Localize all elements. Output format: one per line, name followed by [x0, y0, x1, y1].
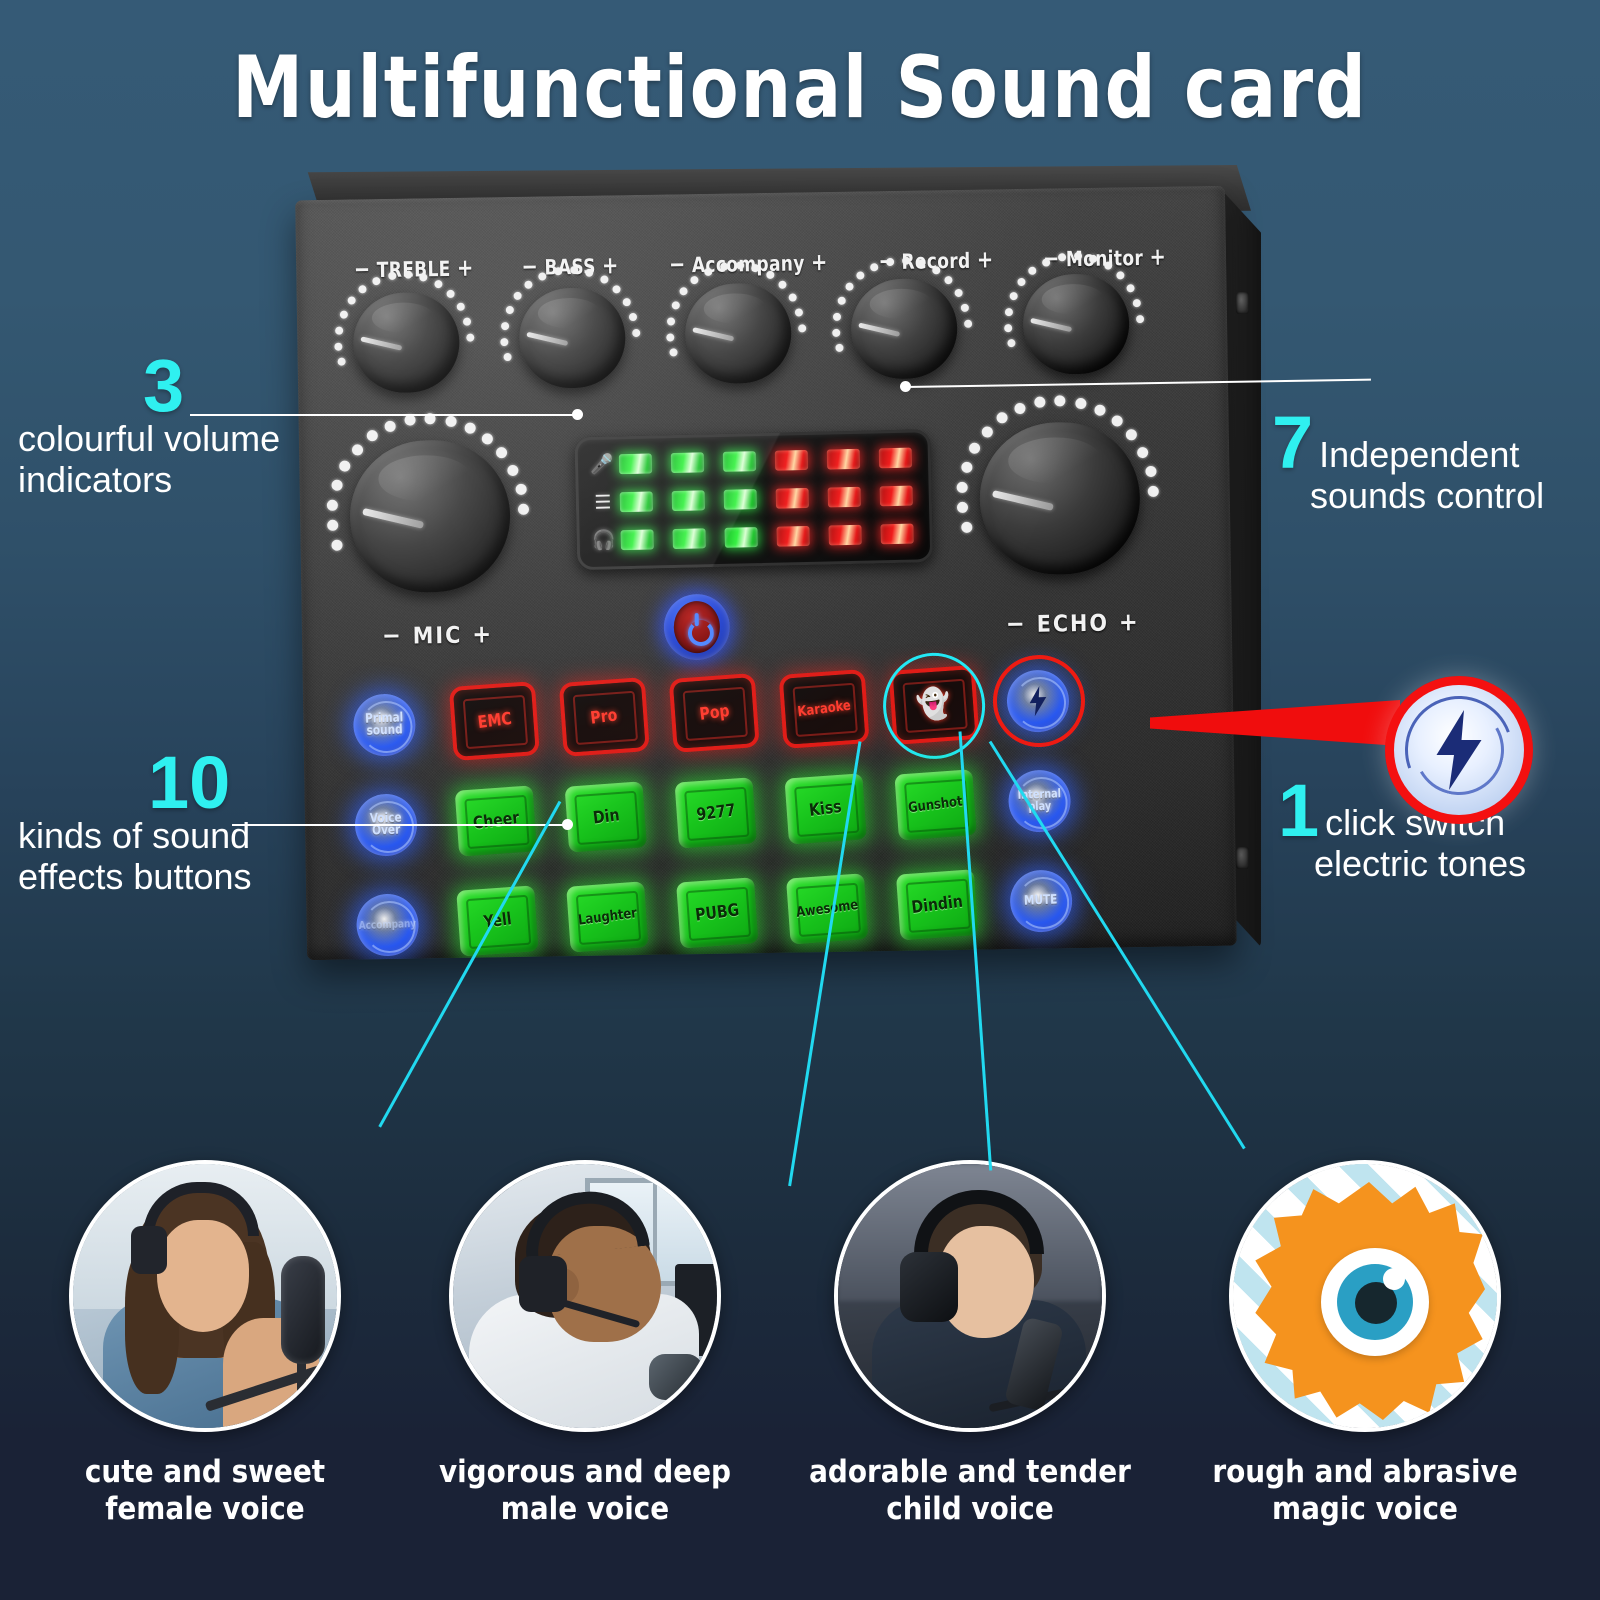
- photo-caption: rough and abrasive magic voice: [1185, 1454, 1545, 1528]
- button-cheer[interactable]: Cheer: [455, 785, 538, 856]
- button-electric-tone[interactable]: [1006, 669, 1070, 733]
- knob-record[interactable]: [846, 274, 966, 394]
- callout-line-2: sounds control: [1310, 475, 1544, 516]
- button-9277[interactable]: 9277: [675, 777, 758, 848]
- caption-line-2: child voice: [790, 1491, 1150, 1528]
- led-row-headphones: 🎧: [576, 514, 933, 560]
- lightning-bolt-icon: [1024, 686, 1051, 717]
- photo-caption: cute and sweet female voice: [25, 1454, 385, 1528]
- led-rows: 🎤 ☰ 🎧: [575, 438, 933, 560]
- led-indicator: [880, 524, 913, 545]
- knob-treble[interactable]: [348, 288, 468, 408]
- callout-line-2: effects buttons: [18, 856, 252, 897]
- button-dindin[interactable]: Dindin: [896, 869, 979, 940]
- button-mute[interactable]: MUTE: [1009, 869, 1073, 933]
- knob-monitor[interactable]: [1018, 269, 1138, 389]
- caption-line-1: cute and sweet: [25, 1454, 385, 1491]
- callout-line-1: Independent: [1319, 434, 1519, 475]
- screw-icon: [1236, 292, 1249, 314]
- led-indicator: [776, 526, 809, 547]
- button-monster-voice[interactable]: 👻: [893, 669, 976, 740]
- led-indicator: [723, 451, 756, 472]
- voice-sample-male[interactable]: vigorous and deep male voice: [405, 1160, 765, 1528]
- callout-leader-line: [190, 414, 578, 416]
- photo-caption: adorable and tender child voice: [790, 1454, 1150, 1528]
- monster-face-icon: 👻: [915, 688, 953, 722]
- callout-line-2: electric tones: [1314, 843, 1526, 884]
- callout-number: 3: [143, 355, 280, 418]
- led-indicator: [775, 450, 808, 471]
- sound-card-device: −TREBLE+ −BASS+ −Accompany+ −Record+ −Mo…: [285, 165, 1260, 965]
- caption-line-2: female voice: [25, 1491, 385, 1528]
- led-indicator: [828, 525, 861, 546]
- mixer-icon: ☰: [586, 491, 621, 515]
- button-yell[interactable]: Yell: [456, 885, 539, 956]
- led-indicator: [879, 448, 912, 469]
- callout-sound-effects: 10 kinds of sound effects buttons: [18, 752, 252, 897]
- led-indicator: [671, 452, 704, 473]
- voice-sample-child[interactable]: adorable and tender child voice: [790, 1160, 1150, 1528]
- callout-leader-dot: [572, 409, 583, 420]
- caption-line-1: adorable and tender: [790, 1454, 1150, 1491]
- led-indicator: [621, 529, 654, 550]
- callout-leader-dot: [562, 819, 573, 830]
- screw-icon: [1236, 847, 1249, 869]
- button-primal-sound[interactable]: Primal sound: [352, 693, 416, 757]
- led-indicator: [672, 490, 705, 511]
- button-karaoke[interactable]: Karaoke: [783, 673, 866, 744]
- boy-headphones-photo: [834, 1160, 1106, 1432]
- button-laughter[interactable]: Laughter: [566, 881, 649, 952]
- lightning-bolt-icon: [1428, 710, 1490, 790]
- callout-line-1: kinds of sound: [18, 815, 252, 856]
- led-indicator: [828, 487, 861, 508]
- voice-sample-gallery: cute and sweet female voice vigorous and…: [0, 1160, 1600, 1600]
- button-emc[interactable]: EMC: [453, 685, 536, 756]
- callout-number: 10: [148, 752, 252, 815]
- button-din[interactable]: Din: [565, 781, 648, 852]
- electric-tone-badge: [1385, 676, 1533, 824]
- led-indicator: [880, 486, 913, 507]
- top-knob-row: [332, 270, 1214, 419]
- callout-leader-dot: [900, 381, 911, 392]
- callout-volume-indicators: 3 colourful volume indicators: [18, 355, 280, 500]
- button-pro[interactable]: Pro: [563, 681, 646, 752]
- button-accompany[interactable]: Accompany: [355, 893, 419, 957]
- page-title: Multifunctional Sound card: [64, 38, 1536, 138]
- caption-line-1: vigorous and deep: [405, 1454, 765, 1491]
- led-indicator: [776, 488, 809, 509]
- orange-monster-photo: [1229, 1160, 1501, 1432]
- caption-line-2: magic voice: [1185, 1491, 1545, 1528]
- voice-sample-female[interactable]: cute and sweet female voice: [25, 1160, 385, 1528]
- photo-caption: vigorous and deep male voice: [405, 1454, 765, 1528]
- callout-number: 7: [1272, 412, 1313, 475]
- woman-podcaster-photo: [69, 1160, 341, 1432]
- knob-echo[interactable]: [973, 415, 1152, 594]
- led-indicator: [827, 449, 860, 470]
- led-indicator: [619, 453, 652, 474]
- led-indicator: [620, 491, 653, 512]
- device-front-face: −TREBLE+ −BASS+ −Accompany+ −Record+ −Mo…: [295, 186, 1237, 961]
- led-indicator: [724, 527, 757, 548]
- knob-label-mic: −MIC+: [372, 619, 504, 650]
- led-volume-display: 🎤 ☰ 🎧: [574, 429, 933, 570]
- callout-number: 1: [1278, 780, 1319, 843]
- led-indicator: [724, 489, 757, 510]
- callout-sounds-control: 7 Independent sounds control: [1272, 412, 1544, 516]
- caption-line-2: male voice: [405, 1491, 765, 1528]
- microphone-icon: 🎤: [585, 452, 620, 477]
- knob-mic[interactable]: [343, 433, 522, 612]
- knob-label-echo: −ECHO+: [996, 607, 1150, 638]
- man-at-desk-photo: [449, 1160, 721, 1432]
- button-pubg[interactable]: PUBG: [676, 877, 759, 948]
- caption-line-1: rough and abrasive: [1185, 1454, 1545, 1491]
- callout-line-2: indicators: [18, 459, 280, 500]
- callout-leader-line: [232, 824, 568, 826]
- headphones-icon: 🎧: [586, 528, 621, 553]
- power-button-inner: [673, 601, 720, 654]
- button-pop[interactable]: Pop: [673, 677, 756, 748]
- power-icon: [686, 615, 708, 639]
- knob-accompany[interactable]: [680, 278, 800, 398]
- led-indicator: [672, 528, 705, 549]
- power-button[interactable]: [663, 594, 730, 661]
- knob-bass[interactable]: [514, 283, 634, 403]
- voice-sample-magic[interactable]: rough and abrasive magic voice: [1185, 1160, 1545, 1528]
- callout-line-1: colourful volume: [18, 418, 280, 459]
